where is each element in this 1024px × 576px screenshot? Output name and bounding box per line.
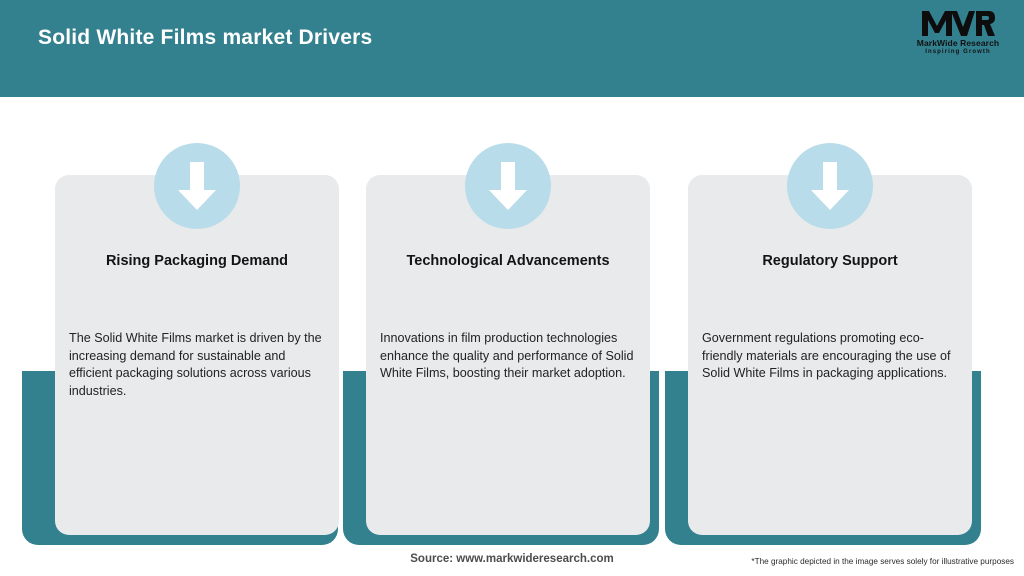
card-title: Regulatory Support [688,253,972,269]
arrow-down-icon [787,143,873,229]
brand-logo: MarkWide Research Inspiring Growth [904,8,1012,60]
card-title: Rising Packaging Demand [55,253,339,269]
card-body-text: Innovations in film production technolog… [380,330,636,383]
card-title: Technological Advancements [366,253,650,269]
card-body-text: Government regulations promoting eco-fri… [702,330,958,383]
driver-card: Technological Advancements Innovations i… [343,175,659,545]
logo-company-name: MarkWide Research [904,38,1012,48]
card-surface: Technological Advancements Innovations i… [366,175,650,535]
arrow-down-icon [154,143,240,229]
driver-card: Rising Packaging Demand The Solid White … [22,175,338,545]
driver-cards-container: Rising Packaging Demand The Solid White … [0,97,1024,547]
card-body-text: The Solid White Films market is driven b… [69,330,325,400]
arrow-down-icon [465,143,551,229]
disclaimer-note: *The graphic depicted in the image serve… [751,557,1014,566]
page-title: Solid White Films market Drivers [38,26,372,50]
logo-monogram-icon [904,8,1012,38]
card-surface: Regulatory Support Government regulation… [688,175,972,535]
card-surface: Rising Packaging Demand The Solid White … [55,175,339,535]
driver-card: Regulatory Support Government regulation… [665,175,981,545]
logo-tagline: Inspiring Growth [904,48,1012,56]
